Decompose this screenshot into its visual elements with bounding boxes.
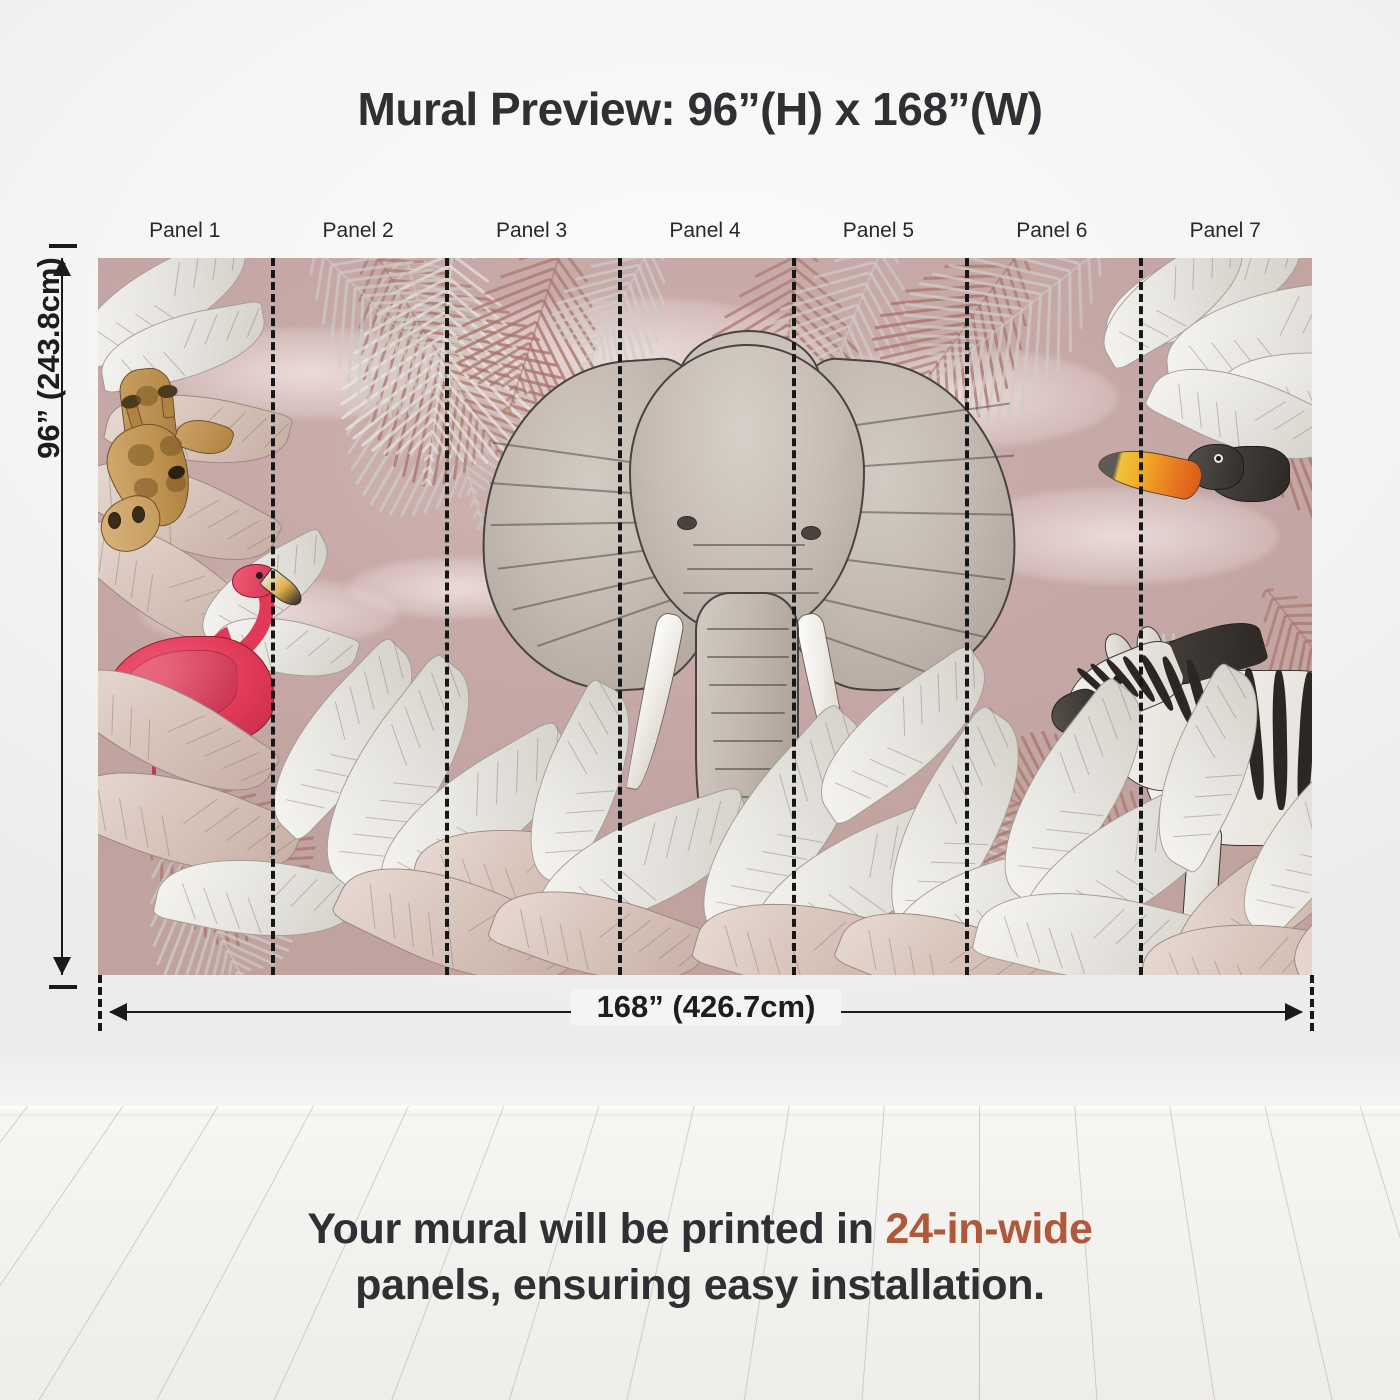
extension-line-left [98, 975, 102, 1031]
footer-caption: Your mural will be printed in 24-in-wide… [0, 1202, 1400, 1314]
caption-accent-text: 24-in-wide [885, 1205, 1092, 1253]
panel-label-3: Panel 3 [445, 216, 618, 250]
panel-divider-1 [271, 258, 275, 975]
floor-plank-line [0, 1106, 980, 1189]
panel-label-7: Panel 7 [1139, 216, 1312, 250]
toucan-illustration [1150, 440, 1312, 520]
caption-line-1: Your mural will be printed in 24-in-wide [0, 1202, 1400, 1258]
dimension-cap [49, 985, 77, 989]
page-title: Mural Preview: 96”(H) x 168”(W) [0, 82, 1400, 136]
panel-divider-2 [445, 258, 449, 975]
height-dimension-label: 96” (243.8cm) [31, 233, 67, 483]
mural-artwork [98, 258, 1312, 975]
panel-label-1: Panel 1 [98, 216, 271, 250]
width-dimension-line: 168” (426.7cm) [110, 1011, 1302, 1013]
extension-line-right [1310, 975, 1314, 1031]
panel-label-5: Panel 5 [792, 216, 965, 250]
floor-plank-line [979, 1106, 1400, 1190]
caption-text-before: Your mural will be printed in [307, 1205, 885, 1253]
panel-label-4: Panel 4 [618, 216, 791, 250]
panel-label-row: Panel 1 Panel 2 Panel 3 Panel 4 Panel 5 … [98, 216, 1312, 250]
panel-label-2: Panel 2 [271, 216, 444, 250]
width-dimension-label: 168” (426.7cm) [110, 989, 1302, 1025]
panel-label-6: Panel 6 [965, 216, 1138, 250]
baseboard [0, 1106, 1400, 1115]
panel-divider-4 [792, 258, 796, 975]
panel-divider-5 [965, 258, 969, 975]
giraffe-illustration [104, 316, 284, 576]
width-dimension-text: 168” (426.7cm) [571, 989, 842, 1025]
panel-divider-3 [618, 258, 622, 975]
panel-divider-6 [1139, 258, 1143, 975]
mural-preview[interactable] [98, 258, 1312, 975]
caption-line-2: panels, ensuring easy installation. [0, 1258, 1400, 1314]
arrow-down-icon [53, 957, 71, 975]
